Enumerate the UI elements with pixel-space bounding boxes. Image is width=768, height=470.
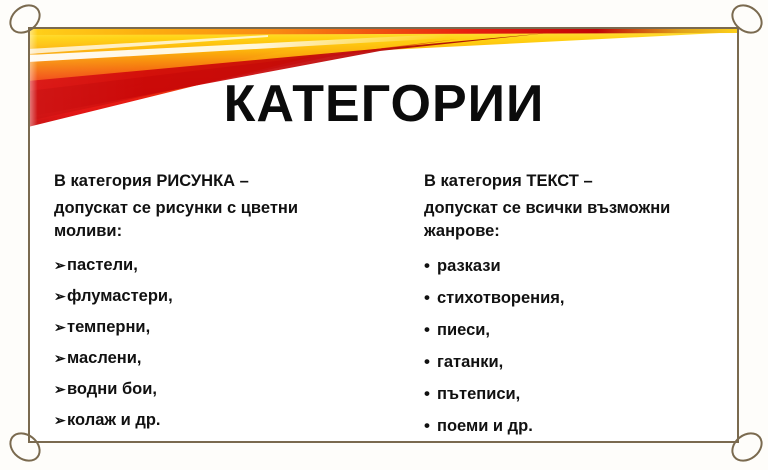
list-item: ➢ флумастери, bbox=[54, 281, 406, 312]
column-subtext-text-line2: жанрове: bbox=[424, 220, 739, 243]
list-item-label: разкази bbox=[437, 251, 501, 282]
list-item: • пътеписи, bbox=[424, 378, 739, 410]
list-item-label: пиеси, bbox=[437, 315, 490, 346]
arrow-bullet-icon: ➢ bbox=[54, 343, 67, 374]
column-heading-text: В категория ТЕКСТ – bbox=[424, 166, 739, 197]
list-item-label: гатанки, bbox=[437, 347, 503, 378]
list-item-label: водни бои, bbox=[67, 374, 157, 405]
dot-bullet-icon: • bbox=[424, 282, 437, 313]
arrow-bullet-icon: ➢ bbox=[54, 312, 67, 343]
arrow-bullet-icon: ➢ bbox=[54, 405, 67, 436]
slide-canvas: КАТЕГОРИИ В категория РИСУНКА – допускат… bbox=[0, 0, 768, 470]
dot-bullet-icon: • bbox=[424, 346, 437, 377]
list-item: • разкази bbox=[424, 250, 739, 282]
list-item-label: пастели, bbox=[67, 250, 138, 281]
list-item: ➢ водни бои, bbox=[54, 374, 406, 405]
list-item-label: темперни, bbox=[67, 312, 150, 343]
list-item: ➢ темперни, bbox=[54, 312, 406, 343]
dot-bullet-icon: • bbox=[424, 250, 437, 281]
arrow-bullet-icon: ➢ bbox=[54, 374, 67, 405]
column-subtext-text-line1: допускат се всички възможни bbox=[424, 197, 739, 220]
column-subtext-drawing: допускат се рисунки с цветни моливи: bbox=[54, 197, 406, 243]
column-heading-drawing: В категория РИСУНКА – bbox=[54, 166, 406, 197]
list-item: ➢ маслени, bbox=[54, 343, 406, 374]
list-item: ➢ пастели, bbox=[54, 250, 406, 281]
slide-title: КАТЕГОРИИ bbox=[0, 76, 768, 132]
list-item: • гатанки, bbox=[424, 346, 739, 378]
list-item-label: стихотворения, bbox=[437, 283, 565, 314]
list-item: • поеми и др. bbox=[424, 410, 739, 442]
list-item-label: маслени, bbox=[67, 343, 141, 374]
list-item: • стихотворения, bbox=[424, 282, 739, 314]
arrow-bullet-icon: ➢ bbox=[54, 250, 67, 281]
content-columns: В категория РИСУНКА – допускат се рисунк… bbox=[28, 160, 739, 435]
list-item: • пиеси, bbox=[424, 314, 739, 346]
dot-bullet-icon: • bbox=[424, 378, 437, 409]
dot-bullet-icon: • bbox=[424, 410, 437, 441]
bullet-list-text: • разкази • стихотворения, • пиеси, • га… bbox=[424, 250, 739, 442]
list-item-label: пътеписи, bbox=[437, 379, 520, 410]
column-subtext-drawing-line1: допускат се рисунки с цветни bbox=[54, 197, 406, 220]
frame-border-top bbox=[28, 27, 739, 29]
list-item-label: поеми и др. bbox=[437, 411, 533, 442]
bullet-list-drawing: ➢ пастели, ➢ флумастери, ➢ темперни, ➢ м… bbox=[54, 250, 406, 436]
list-item-label: флумастери, bbox=[67, 281, 173, 312]
column-subtext-drawing-line2: моливи: bbox=[54, 220, 406, 243]
list-item-label: колаж и др. bbox=[67, 405, 161, 436]
list-item: ➢ колаж и др. bbox=[54, 405, 406, 436]
arrow-bullet-icon: ➢ bbox=[54, 281, 67, 312]
dot-bullet-icon: • bbox=[424, 314, 437, 345]
column-text-category: В категория ТЕКСТ – допускат се всички в… bbox=[406, 160, 739, 435]
column-subtext-text: допускат се всички възможни жанрове: bbox=[424, 197, 739, 243]
column-drawing-category: В категория РИСУНКА – допускат се рисунк… bbox=[28, 160, 406, 435]
